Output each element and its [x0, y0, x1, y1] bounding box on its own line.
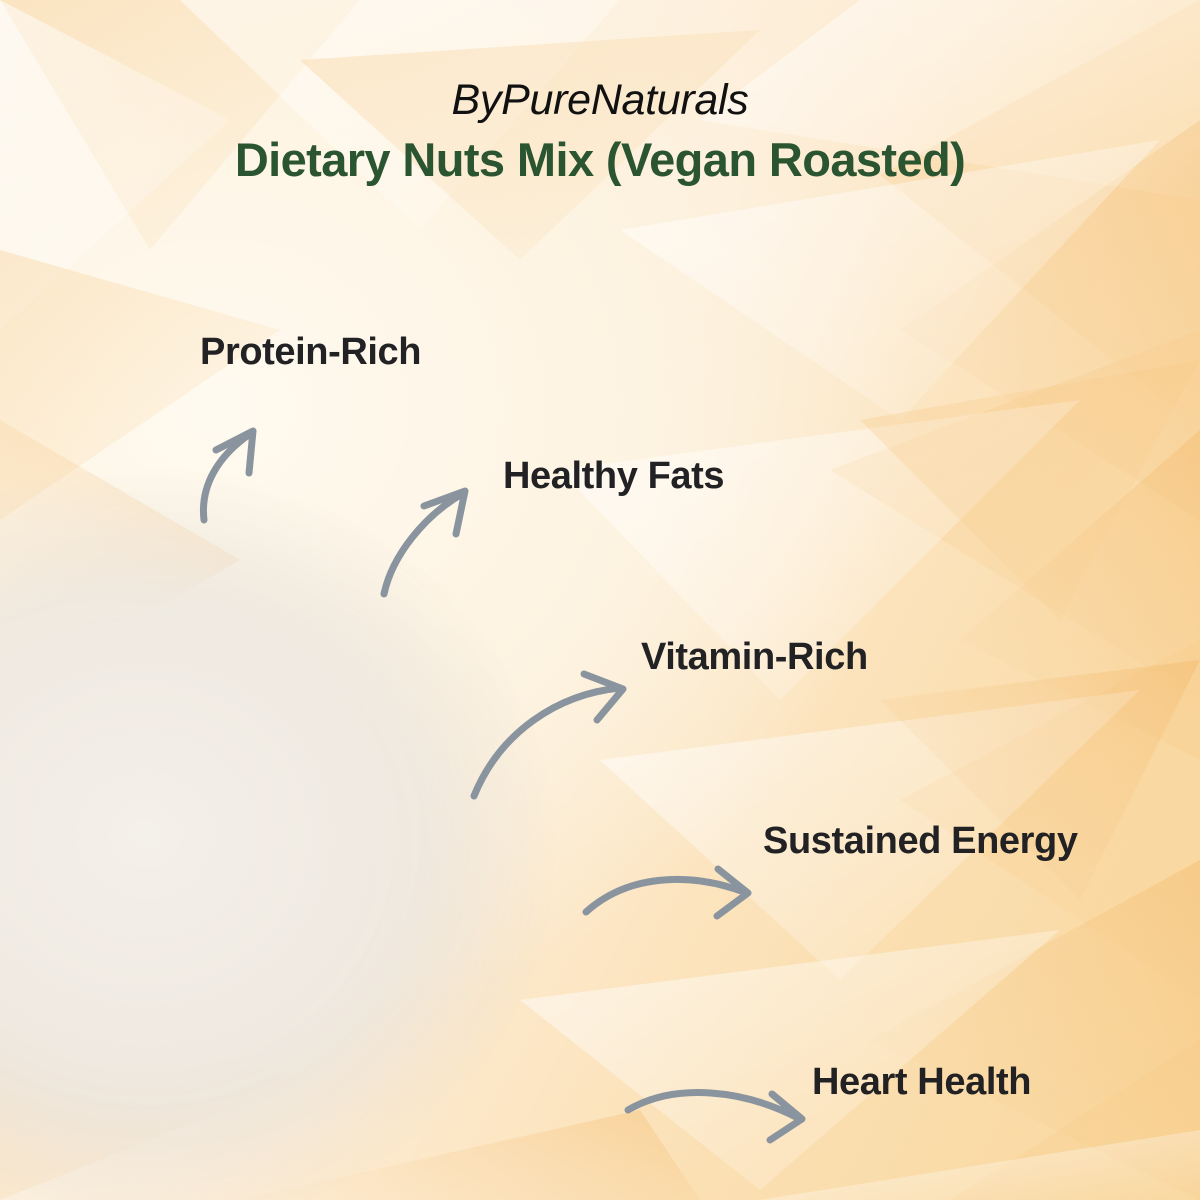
benefit-label-protein-rich: Protein-Rich	[200, 332, 421, 374]
benefit-label-vitamin-rich: Vitamin-Rich	[641, 637, 868, 679]
header: ByPureNaturals Dietary Nuts Mix (Vegan R…	[0, 76, 1200, 188]
brand-name: ByPureNaturals	[0, 76, 1200, 124]
product-photo	[0, 470, 670, 1200]
benefit-label-heart-health: Heart Health	[812, 1062, 1031, 1104]
page-title: Dietary Nuts Mix (Vegan Roasted)	[0, 132, 1200, 187]
benefit-label-healthy-fats: Healthy Fats	[503, 456, 724, 498]
benefit-label-sustained-energy: Sustained Energy	[763, 821, 1078, 863]
plate-surface	[0, 470, 670, 1200]
product-infographic: ByPureNaturals Dietary Nuts Mix (Vegan R…	[0, 0, 1200, 1200]
